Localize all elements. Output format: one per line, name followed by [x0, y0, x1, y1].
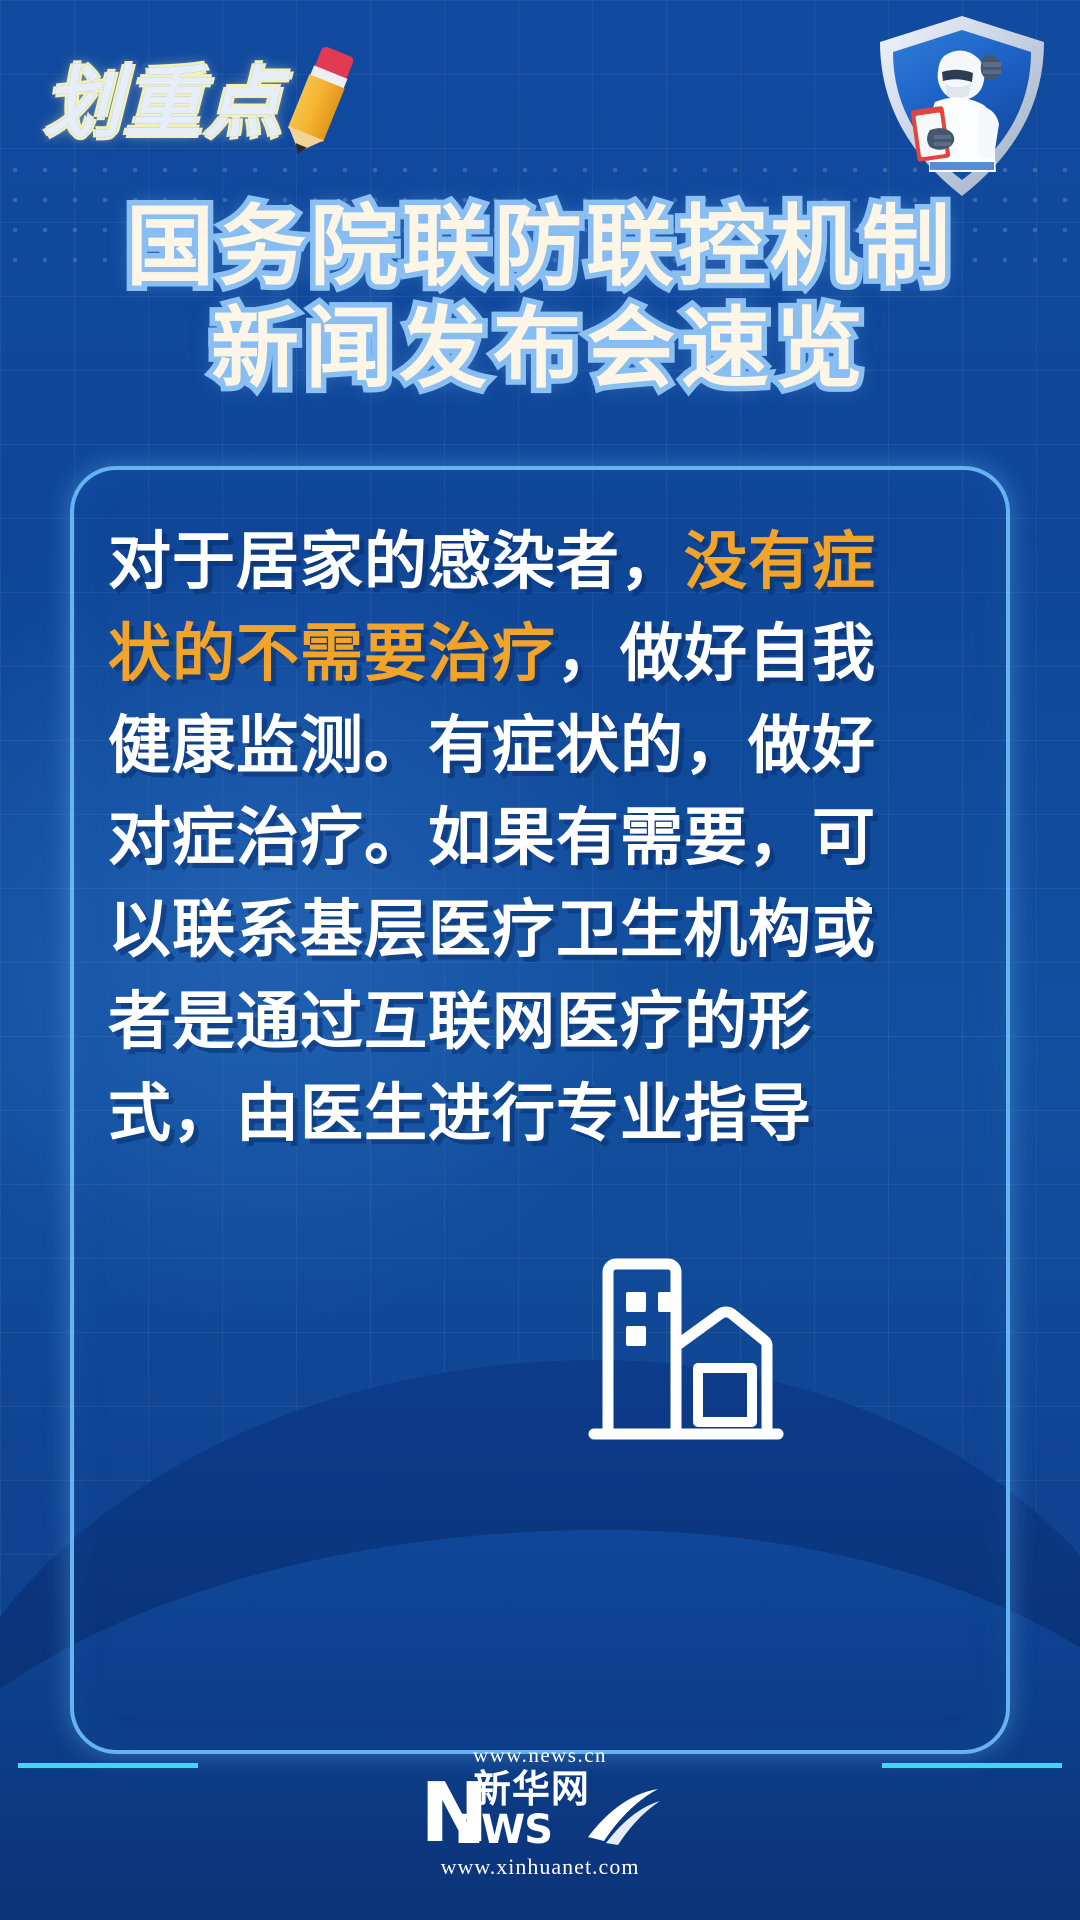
title-line-2: 新闻发布会速览: [0, 298, 1080, 400]
poster-title: 国务院联防联控机制 新闻发布会速览: [0, 196, 1080, 400]
logo-chinese-name: 新华网: [473, 1770, 590, 1808]
body-copy: 对于居家的感染者，没有症 状的不需要治疗，做好自我 健康监测。有症状的，做好 对…: [108, 516, 908, 1160]
body-line: 式，由医生进行专业指导: [108, 1068, 908, 1160]
body-line: 健康监测。有症状的，做好: [108, 700, 908, 792]
shield-medical-worker-icon: [872, 12, 1052, 202]
divider-right: [882, 1763, 1062, 1768]
footer-logo-block: www.news.cn N 新华网 EWS www.xinhuanet.com: [0, 1743, 1080, 1880]
body-line: 对于居家的感染者，没有症: [108, 516, 908, 608]
title-line-1: 国务院联防联控机制: [0, 196, 1080, 298]
highlight-badge: 划重点: [44, 48, 348, 160]
hospital-building-icon: [586, 1250, 786, 1440]
pencil-icon: [271, 41, 367, 167]
body-line: 以联系基层医疗卫生机构或: [108, 884, 908, 976]
body-segment-highlight: 状的不需要治疗: [108, 617, 556, 690]
highlight-badge-label: 划重点: [44, 65, 284, 143]
poster-canvas: 划重点: [0, 0, 1080, 1920]
body-line: 对症治疗。如果有需要，可: [108, 792, 908, 884]
body-segment-highlight: 没有症: [684, 525, 876, 598]
divider-left: [18, 1763, 198, 1768]
body-line: 者是通过互联网医疗的形: [108, 976, 908, 1068]
body-segment-plain: 对于居家的感染者，: [108, 525, 684, 598]
xinhua-logo: N 新华网 EWS: [0, 1772, 1080, 1848]
logo-swoosh-icon: [584, 1787, 660, 1845]
body-segment-plain: ，做好自我: [556, 617, 876, 690]
logo-letter-n: N: [420, 1780, 487, 1847]
body-line: 状的不需要治疗，做好自我: [108, 608, 908, 700]
site-url-bottom: www.xinhuanet.com: [0, 1854, 1080, 1880]
poster-header: 划重点: [0, 0, 1080, 210]
